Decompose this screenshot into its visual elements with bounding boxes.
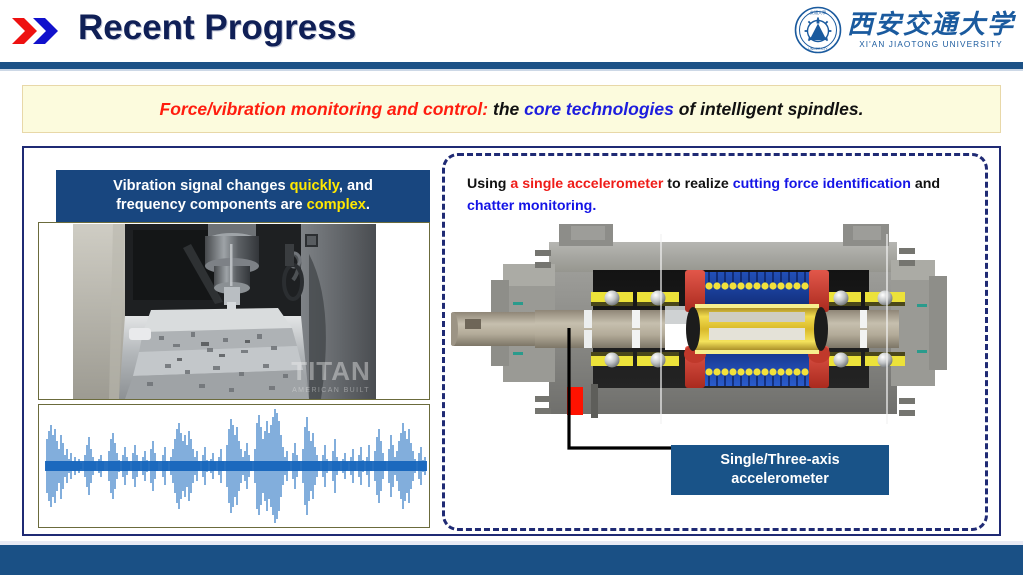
left-panel-caption: Vibration signal changes quickly, and fr… [56, 170, 430, 222]
photo-watermark-subtitle: AMERICAN BUILT [292, 387, 370, 394]
left-panel: Vibration signal changes quickly, and fr… [38, 156, 430, 528]
caption-l1-part-2: , and [339, 178, 373, 194]
callout-line-1: Single/Three-axis [720, 451, 839, 470]
slide-header: Recent Progress [0, 0, 1023, 62]
key-message-banner: Force/vibration monitoring and control: … [22, 85, 1001, 133]
svg-text:交通大學: 交通大學 [810, 9, 826, 15]
rp-segment-2: to realize [663, 176, 732, 192]
caption-line-2: frequency components are complex. [116, 196, 370, 215]
rp-segment-3: cutting force identification [733, 176, 911, 192]
built-in-motor [684, 270, 830, 388]
caption-l2-part-1: complex [307, 197, 366, 213]
vibration-signal-waveform [38, 404, 430, 528]
caption-l2-part-2: . [366, 197, 370, 213]
page-title: Recent Progress [78, 8, 356, 48]
logo-wordmark: 西安交通大学 XI'AN JIAOTONG UNIVERSITY [847, 11, 1015, 48]
right-panel: Using a single accelerometer to realize … [442, 153, 988, 531]
caption-l2-part-0: frequency components are [116, 197, 307, 213]
logo-chinese-name: 西安交通大学 [847, 11, 1015, 38]
caption-l1-part-1: quickly [290, 178, 339, 194]
header-divider-thin [0, 69, 1023, 71]
rp-segment-4: and [911, 176, 940, 192]
header-divider [0, 62, 1023, 69]
content-frame: Vibration signal changes quickly, and fr… [22, 146, 1001, 536]
svg-text:UNIVERSITY: UNIVERSITY [808, 47, 828, 51]
motorized-spindle-cross-section [451, 224, 985, 434]
sensor-lead-wire [565, 326, 680, 474]
xjtu-seal-icon: 交通大學 UNIVERSITY [794, 6, 842, 54]
photo-watermark-title: TITAN [291, 356, 371, 386]
slide-footer: 21 [0, 545, 1023, 575]
banner-segment-2: core technologies [524, 99, 674, 119]
rp-segment-1: a single accelerometer [510, 176, 663, 192]
caption-l1-part-0: Vibration signal changes [113, 178, 290, 194]
banner-text: Force/vibration monitoring and control: … [160, 99, 864, 120]
banner-segment-1: the [488, 99, 524, 119]
caption-line-1: Vibration signal changes quickly, and [113, 177, 373, 196]
chevron-decoration [12, 17, 70, 45]
rp-segment-0: Using [467, 176, 510, 192]
accelerometer-callout: Single/Three-axis accelerometer [671, 445, 889, 495]
cnc-milling-photo: TITAN AMERICAN BUILT [73, 224, 376, 399]
rp-segment-5: chatter monitoring. [467, 198, 596, 214]
banner-segment-0: Force/vibration monitoring and control: [160, 99, 489, 119]
right-panel-text: Using a single accelerometer to realize … [467, 174, 967, 217]
callout-line-2: accelerometer [731, 470, 829, 489]
chevron-right-blue-icon [33, 17, 59, 45]
machining-photo-box: TITAN AMERICAN BUILT [38, 222, 430, 400]
banner-segment-3: of intelligent spindles. [674, 99, 864, 119]
university-logo: 交通大學 UNIVERSITY 西安交通大学 XI'AN JIAOTONG UN… [794, 4, 1015, 56]
slide: Recent Progress [0, 0, 1023, 575]
logo-english-name: XI'AN JIAOTONG UNIVERSITY [859, 40, 1003, 49]
